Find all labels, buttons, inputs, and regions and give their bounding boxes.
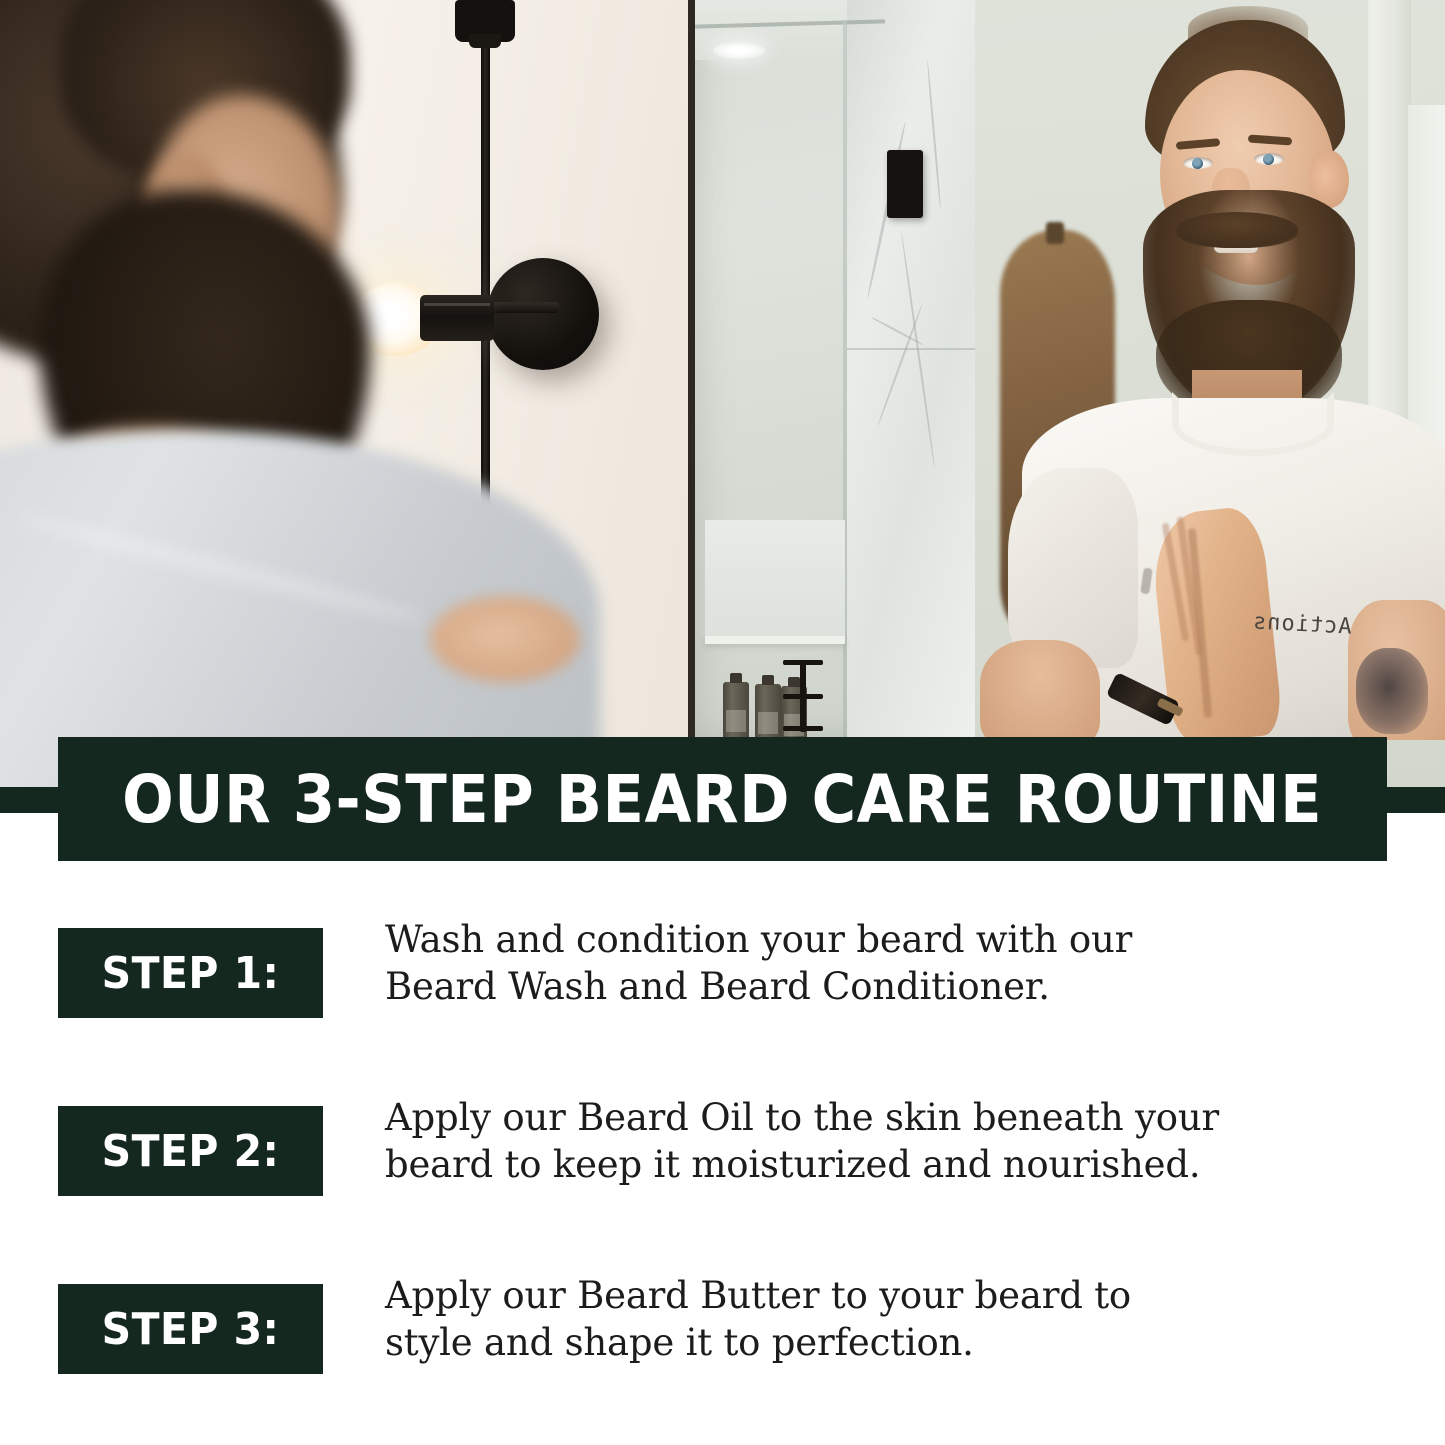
hero-photo: Actions [0, 0, 1445, 790]
step-2-line-1: Apply our Beard Oil to the skin beneath … [385, 1094, 1395, 1141]
reflected-man-arm [980, 640, 1100, 740]
infographic-page: Actions OUR 3-STEP BEARD CARE ROUTINE ST… [0, 0, 1445, 1445]
foreground-man-thumb [430, 596, 580, 682]
step-1-description: Wash and condition your beard with our B… [385, 916, 1395, 1011]
step-1-line-1: Wash and condition your beard with our [385, 916, 1395, 963]
step-2-badge: STEP 2: [58, 1106, 323, 1196]
banner: OUR 3-STEP BEARD CARE ROUTINE [58, 737, 1387, 861]
bulb-socket [420, 295, 494, 341]
towel-hook [1046, 222, 1064, 244]
tshirt-sleeve [1008, 468, 1138, 668]
step-2-line-2: beard to keep it moisturized and nourish… [385, 1141, 1395, 1188]
mirror-reflection-man: Actions [960, 0, 1445, 740]
sconce-backplate [487, 258, 599, 370]
tshirt-mirrored-text: Actions [1251, 609, 1352, 639]
marble-vein [926, 60, 941, 210]
reflected-man-eye [1183, 157, 1213, 169]
step-3-line-1: Apply our Beard Butter to your beard to [385, 1272, 1395, 1319]
page-title: OUR 3-STEP BEARD CARE ROUTINE [123, 761, 1323, 838]
sconce-ceiling-mount [455, 0, 515, 42]
mirror-glass-shower [688, 0, 975, 740]
shower-bottle [755, 684, 781, 740]
step-2-badge-label: STEP 2: [102, 1126, 280, 1177]
step-row: STEP 3: Apply our Beard Butter to your b… [58, 1284, 1398, 1374]
shower-control-fixture [887, 150, 923, 218]
marble-wall [847, 0, 975, 740]
step-3-badge: STEP 3: [58, 1284, 323, 1374]
step-1-badge: STEP 1: [58, 928, 323, 1018]
step-row: STEP 1: Wash and condition your beard wi… [58, 928, 1398, 1018]
shower-grab-bar [783, 660, 823, 738]
shower-niche [705, 520, 845, 640]
reflected-man-mustache [1176, 212, 1298, 248]
steps-list: STEP 1: Wash and condition your beard wi… [58, 928, 1398, 1445]
step-2-description: Apply our Beard Oil to the skin beneath … [385, 1094, 1395, 1189]
forearm-tattoo [1356, 648, 1428, 734]
step-3-line-2: style and shape it to perfection. [385, 1319, 1395, 1366]
niche-shelf [705, 636, 845, 644]
grab-bar-rung [783, 726, 823, 731]
step-3-description: Apply our Beard Butter to your beard to … [385, 1272, 1395, 1367]
tshirt-collar [1172, 392, 1334, 456]
step-1-line-2: Beard Wash and Beard Conditioner. [385, 963, 1395, 1010]
step-row: STEP 2: Apply our Beard Oil to the skin … [58, 1106, 1398, 1196]
marble-seam [847, 348, 975, 350]
reflected-man-eye [1254, 153, 1284, 165]
recessed-ceiling-light [713, 42, 765, 59]
grab-bar-rung [783, 660, 823, 665]
grab-bar-rung [783, 694, 823, 699]
step-3-badge-label: STEP 3: [102, 1304, 280, 1355]
shower-bottle [723, 682, 749, 740]
step-1-badge-label: STEP 1: [102, 948, 280, 999]
